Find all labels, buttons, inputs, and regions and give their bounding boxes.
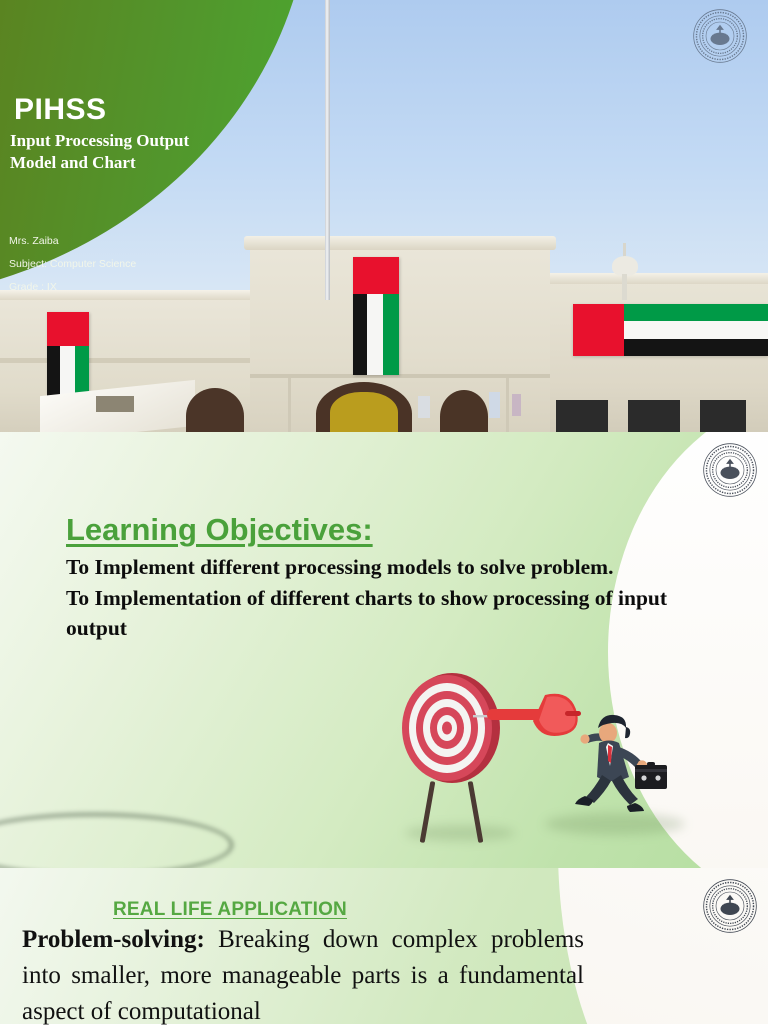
real-life-application-body: Problem-solving: Breaking down complex p…: [22, 922, 584, 1030]
window-2: [628, 400, 680, 432]
objective-line-1: To Implement different processing models…: [66, 552, 706, 583]
subtitle-line-2: Model and Chart: [10, 152, 290, 174]
slide-title: PIHSS Input Processing Output Model and …: [0, 0, 768, 432]
body-lead-bold: Problem-solving:: [22, 926, 205, 953]
subtitle-line-1: Input Processing Output: [10, 130, 290, 152]
building-main-ledge: [250, 374, 550, 378]
building-right-parapet: [536, 273, 768, 284]
notice-board-secondary: [512, 394, 521, 416]
subject-label: Subject: Computer Science: [9, 258, 136, 270]
building-left-ledge: [0, 358, 260, 363]
canopy-post-2: [506, 378, 509, 432]
grade-label: Grade : IX: [9, 281, 57, 293]
notice-board: [489, 392, 500, 418]
main-entrance-interior: [330, 392, 398, 432]
learning-objectives-body: To Implement different processing models…: [66, 552, 706, 644]
building-main-parapet: [244, 236, 556, 250]
canopy-post-1: [288, 378, 291, 432]
school-seal-logo-icon: [702, 442, 758, 498]
page-title: PIHSS: [14, 95, 107, 125]
dart-target-illustration: [395, 665, 675, 840]
flagpole: [325, 0, 330, 300]
real-life-application-heading: REAL LIFE APPLICATION: [113, 899, 347, 921]
slide-deck-page: PIHSS Input Processing Output Model and …: [0, 0, 768, 1024]
learning-objectives-heading: Learning Objectives:: [66, 512, 373, 548]
window-4: [96, 396, 134, 412]
window-3: [700, 400, 746, 432]
school-seal-logo-icon: [692, 8, 748, 64]
presenter-name: Mrs. Zaiba: [9, 235, 59, 247]
entrance-sign: [418, 396, 430, 418]
dart-and-person-svg: [395, 665, 675, 840]
building-dome: [612, 256, 638, 276]
uae-flag-vertical-center: [353, 257, 399, 375]
page-subtitle: Input Processing Output Model and Chart: [10, 130, 290, 174]
school-seal-logo-icon: [702, 878, 758, 934]
uae-flag-horizontal-right: [573, 304, 768, 356]
objective-line-2: To Implementation of different charts to…: [66, 583, 706, 644]
dome-column: [622, 274, 627, 300]
window-1: [556, 400, 608, 432]
